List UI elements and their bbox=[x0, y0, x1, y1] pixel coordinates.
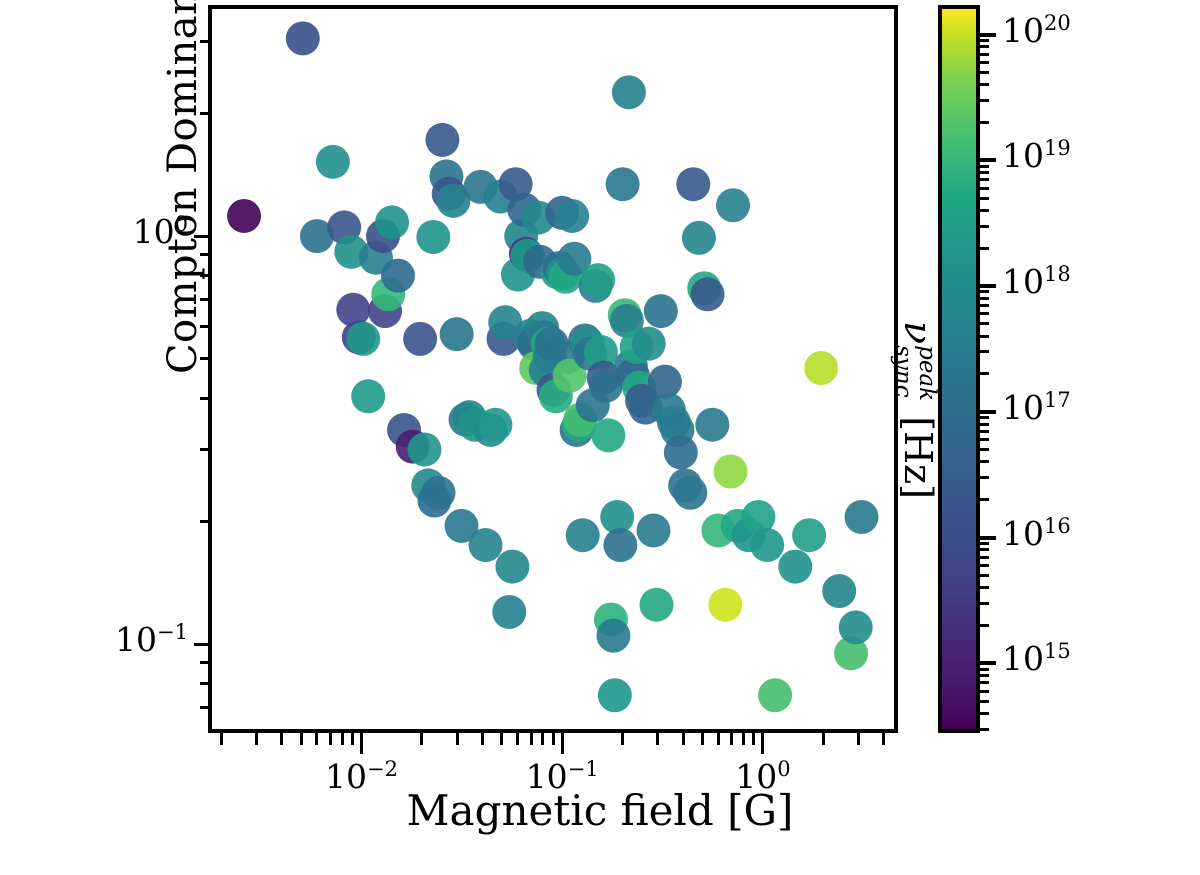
scatter-point bbox=[422, 476, 456, 510]
colorbar-tick-minor bbox=[980, 322, 989, 325]
x-tick-label: 100 bbox=[735, 757, 790, 796]
y-tick-minor bbox=[200, 661, 208, 664]
scatter-point bbox=[227, 199, 261, 233]
scatter-point bbox=[581, 263, 615, 297]
y-tick-label: 10−1 bbox=[48, 620, 188, 659]
scatter-point bbox=[804, 351, 838, 385]
x-tick-minor bbox=[481, 733, 484, 745]
scatter-point bbox=[691, 277, 725, 311]
colorbar-tick-minor bbox=[980, 209, 989, 212]
scatter-point bbox=[492, 595, 526, 629]
y-tick-minor bbox=[200, 682, 208, 685]
y-tick-minor bbox=[200, 448, 208, 451]
scatter-point bbox=[425, 123, 459, 157]
colorbar-tick-label: 1018 bbox=[1002, 262, 1071, 301]
scatter-point bbox=[407, 433, 441, 467]
colorbar-tick-minor bbox=[980, 121, 989, 124]
scatter-point bbox=[644, 294, 678, 328]
plot-area bbox=[212, 9, 894, 729]
x-tick-minor bbox=[329, 733, 332, 745]
scatter-point bbox=[495, 550, 529, 584]
x-tick-major bbox=[761, 733, 764, 754]
y-tick-minor bbox=[200, 112, 208, 115]
scatter-point bbox=[639, 588, 673, 622]
colorbar-label-sub: sync bbox=[891, 345, 917, 398]
colorbar-tick-minor bbox=[980, 460, 989, 463]
x-tick-minor bbox=[822, 733, 825, 745]
x-tick-minor bbox=[717, 733, 720, 745]
colorbar-tick-minor bbox=[980, 416, 989, 419]
scatter-plot-figure: Compton Dominance 10−1100 Magnetic field… bbox=[0, 0, 1200, 875]
colorbar-label-supsub: peaksync bbox=[891, 345, 938, 401]
colorbar-label-unit: [Hz] bbox=[896, 416, 940, 499]
scatter-point bbox=[716, 188, 750, 222]
colorbar-tick-minor bbox=[980, 372, 989, 375]
scatter-point bbox=[566, 518, 600, 552]
scatter-point bbox=[682, 221, 716, 255]
scatter-point bbox=[286, 21, 320, 55]
colorbar-tick-minor bbox=[980, 700, 989, 703]
scatter-point bbox=[381, 259, 415, 293]
x-tick-minor bbox=[516, 733, 519, 745]
x-tick-minor bbox=[300, 733, 303, 745]
colorbar-tick-label: 1017 bbox=[1002, 388, 1071, 427]
x-tick-minor bbox=[255, 733, 258, 745]
colorbar-tick-minor bbox=[980, 45, 989, 48]
x-tick-minor bbox=[742, 733, 745, 745]
scatter-point bbox=[478, 408, 512, 442]
colorbar-tick-minor bbox=[980, 335, 989, 338]
colorbar-tick-minor bbox=[980, 542, 989, 545]
y-tick-major bbox=[194, 643, 208, 646]
scatter-point bbox=[758, 678, 792, 712]
colorbar-tick-minor bbox=[980, 586, 989, 589]
x-tick-minor bbox=[280, 733, 283, 745]
scatter-point bbox=[676, 167, 710, 201]
scatter-point bbox=[346, 322, 380, 356]
colorbar-tick-minor bbox=[980, 602, 989, 605]
scatter-point bbox=[792, 518, 826, 552]
x-tick-minor bbox=[701, 733, 704, 745]
colorbar-tick-minor bbox=[980, 423, 989, 426]
colorbar-tick-major bbox=[980, 536, 996, 540]
y-tick-minor bbox=[200, 253, 208, 256]
colorbar-tick-minor bbox=[980, 624, 989, 627]
scatter-point bbox=[822, 574, 856, 608]
colorbar-tick-minor bbox=[980, 556, 989, 559]
scatter-point bbox=[469, 528, 503, 562]
scatter-point bbox=[845, 500, 879, 534]
colorbar-tick-minor bbox=[980, 53, 989, 56]
scatter-point bbox=[603, 528, 637, 562]
colorbar-tick-minor bbox=[980, 225, 989, 228]
scatter-point bbox=[375, 205, 409, 239]
x-tick-minor bbox=[656, 733, 659, 745]
colorbar-tick-minor bbox=[980, 171, 989, 174]
colorbar-tick-minor bbox=[980, 187, 989, 190]
y-tick-label: 100 bbox=[48, 212, 188, 251]
colorbar-tick-minor bbox=[980, 438, 989, 441]
x-tick-minor bbox=[882, 733, 885, 745]
y-axis-label: Compton Dominance bbox=[160, 0, 206, 393]
colorbar-tick-minor bbox=[980, 247, 989, 250]
colorbar-tick-label: 1016 bbox=[1002, 514, 1071, 553]
colorbar-tick-minor bbox=[980, 448, 989, 451]
x-tick-minor bbox=[220, 733, 223, 745]
scatter-point bbox=[632, 327, 666, 361]
scatter-point bbox=[403, 322, 437, 356]
x-tick-major bbox=[360, 733, 363, 754]
colorbar-tick-minor bbox=[980, 498, 989, 501]
colorbar-tick-minor bbox=[980, 83, 989, 86]
x-tick-minor bbox=[682, 733, 685, 745]
x-tick-minor bbox=[315, 733, 318, 745]
scatter-point bbox=[555, 199, 589, 233]
colorbar-tick-label: 1019 bbox=[1002, 136, 1071, 175]
colorbar: 101510161017101810191020 bbox=[938, 5, 980, 733]
scatter-point bbox=[612, 75, 646, 109]
scatter-point bbox=[351, 379, 385, 413]
colorbar-tick-minor bbox=[980, 197, 989, 200]
x-tick-minor bbox=[456, 733, 459, 745]
scatter-point bbox=[591, 418, 625, 452]
plot-frame bbox=[208, 5, 898, 733]
y-tick-minor bbox=[200, 520, 208, 523]
colorbar-tick-major bbox=[980, 410, 996, 414]
colorbar-label-sup: peak bbox=[914, 345, 940, 401]
x-tick-minor bbox=[857, 733, 860, 745]
colorbar-gradient bbox=[938, 5, 980, 733]
x-tick-minor bbox=[752, 733, 755, 745]
colorbar-tick-label: 1015 bbox=[1002, 639, 1071, 678]
colorbar-tick-minor bbox=[980, 165, 989, 168]
x-tick-minor bbox=[730, 733, 733, 745]
colorbar-tick-minor bbox=[980, 61, 989, 64]
y-tick-minor bbox=[200, 397, 208, 400]
colorbar-tick-major bbox=[980, 284, 996, 288]
colorbar-tick-minor bbox=[980, 548, 989, 551]
y-tick-major bbox=[194, 235, 208, 238]
y-tick-minor bbox=[200, 706, 208, 709]
colorbar-tick-minor bbox=[980, 674, 989, 677]
colorbar-tick-minor bbox=[980, 297, 989, 300]
scatter-point bbox=[636, 513, 670, 547]
colorbar-tick-minor bbox=[980, 312, 989, 315]
x-tick-minor bbox=[621, 733, 624, 745]
colorbar-label-nu: ν bbox=[896, 321, 940, 344]
y-tick-minor bbox=[200, 357, 208, 360]
x-tick-minor bbox=[341, 733, 344, 745]
colorbar-tick-major bbox=[980, 661, 996, 665]
scatter-point bbox=[596, 619, 630, 653]
scatter-point bbox=[664, 435, 698, 469]
scatter-point bbox=[416, 220, 450, 254]
scatter-point bbox=[695, 408, 729, 442]
colorbar-tick-minor bbox=[980, 476, 989, 479]
scatter-point bbox=[708, 588, 742, 622]
x-axis-label: Magnetic field [G] bbox=[0, 786, 1200, 835]
scatter-point bbox=[440, 317, 474, 351]
colorbar-tick-minor bbox=[980, 350, 989, 353]
x-tick-label: 10−1 bbox=[526, 757, 599, 796]
x-tick-minor bbox=[420, 733, 423, 745]
colorbar-tick-minor bbox=[980, 178, 989, 181]
y-tick-minor bbox=[200, 325, 208, 328]
colorbar-tick-minor bbox=[980, 304, 989, 307]
colorbar-tick-major bbox=[980, 158, 996, 162]
colorbar-tick-minor bbox=[980, 681, 989, 684]
colorbar-tick-minor bbox=[980, 430, 989, 433]
y-tick-minor bbox=[200, 274, 208, 277]
scatter-points-layer bbox=[212, 9, 894, 729]
colorbar-tick-minor bbox=[980, 712, 989, 715]
colorbar-tick-minor bbox=[980, 668, 989, 671]
colorbar-tick-minor bbox=[980, 71, 989, 74]
x-tick-minor bbox=[541, 733, 544, 745]
y-tick-minor bbox=[200, 298, 208, 301]
scatter-point bbox=[750, 528, 784, 562]
colorbar-tick-minor bbox=[980, 564, 989, 567]
colorbar-tick-minor bbox=[980, 290, 989, 293]
colorbar-tick-minor bbox=[980, 728, 989, 731]
scatter-point bbox=[606, 167, 640, 201]
scatter-point bbox=[714, 455, 748, 489]
scatter-point bbox=[598, 678, 632, 712]
colorbar-tick-minor bbox=[980, 39, 989, 42]
x-tick-minor bbox=[351, 733, 354, 745]
x-tick-major bbox=[561, 733, 564, 754]
scatter-point bbox=[839, 610, 873, 644]
x-tick-label: 10−2 bbox=[325, 757, 398, 796]
colorbar-tick-minor bbox=[980, 99, 989, 102]
scatter-point bbox=[316, 145, 350, 179]
colorbar-tick-minor bbox=[980, 574, 989, 577]
x-tick-minor bbox=[530, 733, 533, 745]
colorbar-tick-label: 1020 bbox=[1002, 11, 1071, 50]
colorbar-tick-minor bbox=[980, 690, 989, 693]
scatter-point bbox=[673, 476, 707, 510]
colorbar-tick-major bbox=[980, 33, 996, 37]
x-tick-minor bbox=[500, 733, 503, 745]
x-tick-minor bbox=[552, 733, 555, 745]
y-tick-minor bbox=[200, 40, 208, 43]
scatter-point bbox=[778, 550, 812, 584]
colorbar-label: νpeaksync [Hz] bbox=[891, 200, 940, 620]
